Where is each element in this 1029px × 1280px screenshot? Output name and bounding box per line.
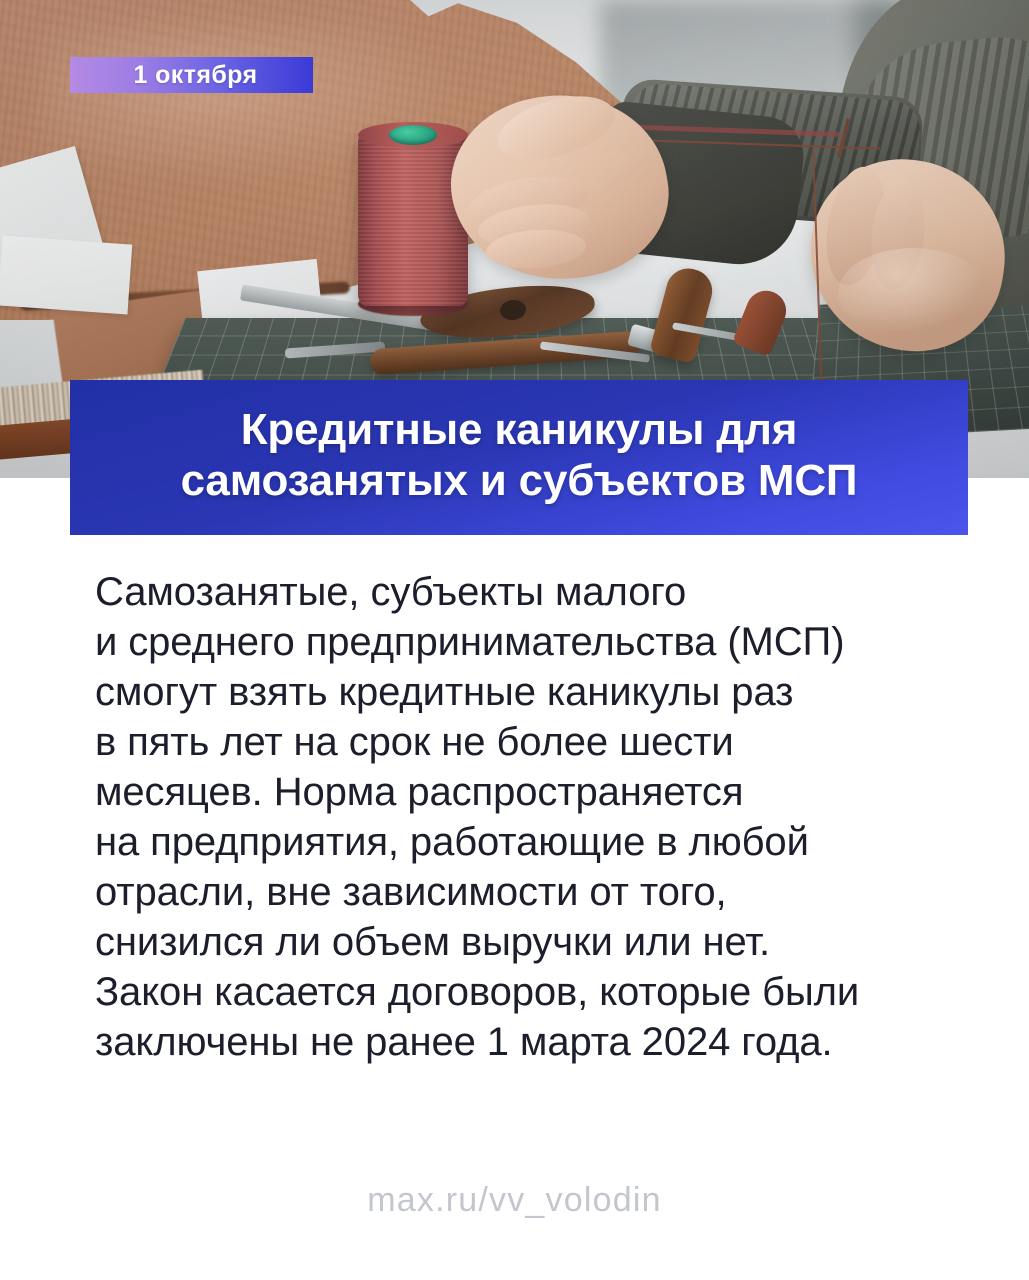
body-line: заключены не ранее 1 марта 2024 года. <box>95 1017 975 1067</box>
body-line: снизился ли объем выручки или нет. <box>95 917 975 967</box>
footer: max.ru/vv_volodin <box>0 1181 1029 1220</box>
photo-paper-sheet-2 <box>0 236 132 315</box>
title-line-1: Кредитные каникулы для <box>241 405 798 455</box>
body-line: смогут взять кредитные каникулы раз <box>95 667 975 717</box>
title-line-2: самозанятых и субъектов МСП <box>181 456 858 506</box>
body-line: месяцев. Норма распространяется <box>95 767 975 817</box>
photo-hand-right-highlight <box>838 248 988 338</box>
footer-url[interactable]: max.ru/vv_volodin <box>367 1181 661 1219</box>
photo-spool-cap <box>389 125 437 145</box>
body-text: Самозанятые, субъекты малого и среднего … <box>95 567 975 1067</box>
photo-thread-spool <box>358 131 468 306</box>
body-line: Закон касается договоров, которые были <box>95 967 975 1017</box>
date-badge: 1 октября <box>70 57 313 93</box>
date-badge-label: 1 октября <box>119 63 263 88</box>
body-line: Самозанятые, субъекты малого <box>95 567 975 617</box>
body-line: отрасли, вне зависимости от того, <box>95 867 975 917</box>
body-line: в пять лет на срок не более шести <box>95 717 975 767</box>
info-card: 1 октября Кредитные каникулы для самозан… <box>0 0 1029 1280</box>
title-banner: Кредитные каникулы для самозанятых и суб… <box>70 380 968 535</box>
body-line: на предприятия, работающие в любой <box>95 817 975 867</box>
body-line: и среднего предпринимательства (МСП) <box>95 617 975 667</box>
